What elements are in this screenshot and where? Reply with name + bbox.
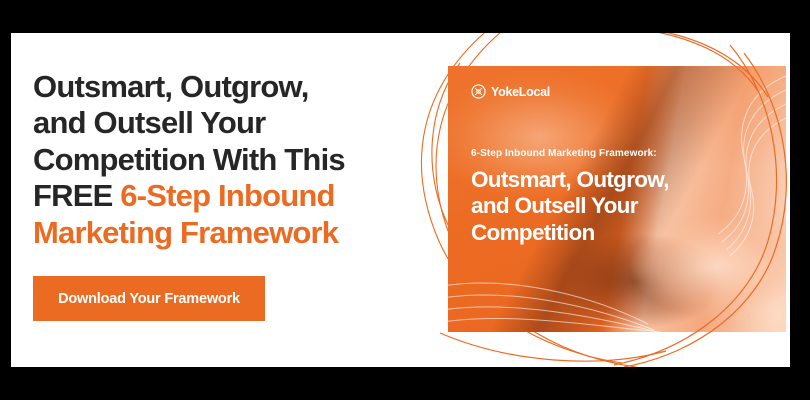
page-title: Outsmart, Outgrow, and Outsell Your Comp… [33, 69, 403, 251]
headline-line-3: Competition With This [33, 142, 345, 177]
ebook-visual-column: YokeLocal 6-Step Inbound Marketing Frame… [400, 33, 790, 367]
promo-text-column: Outsmart, Outgrow, and Outsell Your Comp… [33, 69, 403, 251]
cover-title-line-2: and Outsell Your [471, 193, 638, 218]
headline-line-2: and Outsell Your [33, 105, 265, 140]
promo-card: Outsmart, Outgrow, and Outsell Your Comp… [11, 33, 790, 367]
screenshot-canvas: Outsmart, Outgrow, and Outsell Your Comp… [0, 0, 810, 400]
headline-line-4-accent: 6-Step Inbound [120, 178, 334, 213]
headline-line-1: Outsmart, Outgrow, [33, 69, 309, 104]
headline-line-4-plain: FREE [33, 178, 120, 213]
yoke-circle-logo-icon [471, 84, 486, 99]
logo-text: YokeLocal [491, 85, 550, 99]
headline-line-5-accent: Marketing Framework [33, 215, 338, 250]
yokelocal-logo: YokeLocal [471, 84, 550, 99]
download-framework-button[interactable]: Download Your Framework [33, 276, 265, 321]
cover-title-line-1: Outsmart, Outgrow, [471, 167, 669, 192]
cover-eyebrow: 6-Step Inbound Marketing Framework: [471, 148, 772, 159]
ebook-cover: YokeLocal 6-Step Inbound Marketing Frame… [448, 66, 786, 332]
cover-title-line-3: Competition [471, 220, 595, 245]
cover-title: Outsmart, Outgrow, and Outsell Your Comp… [471, 167, 772, 246]
ebook-cover-text: 6-Step Inbound Marketing Framework: Outs… [471, 148, 772, 246]
